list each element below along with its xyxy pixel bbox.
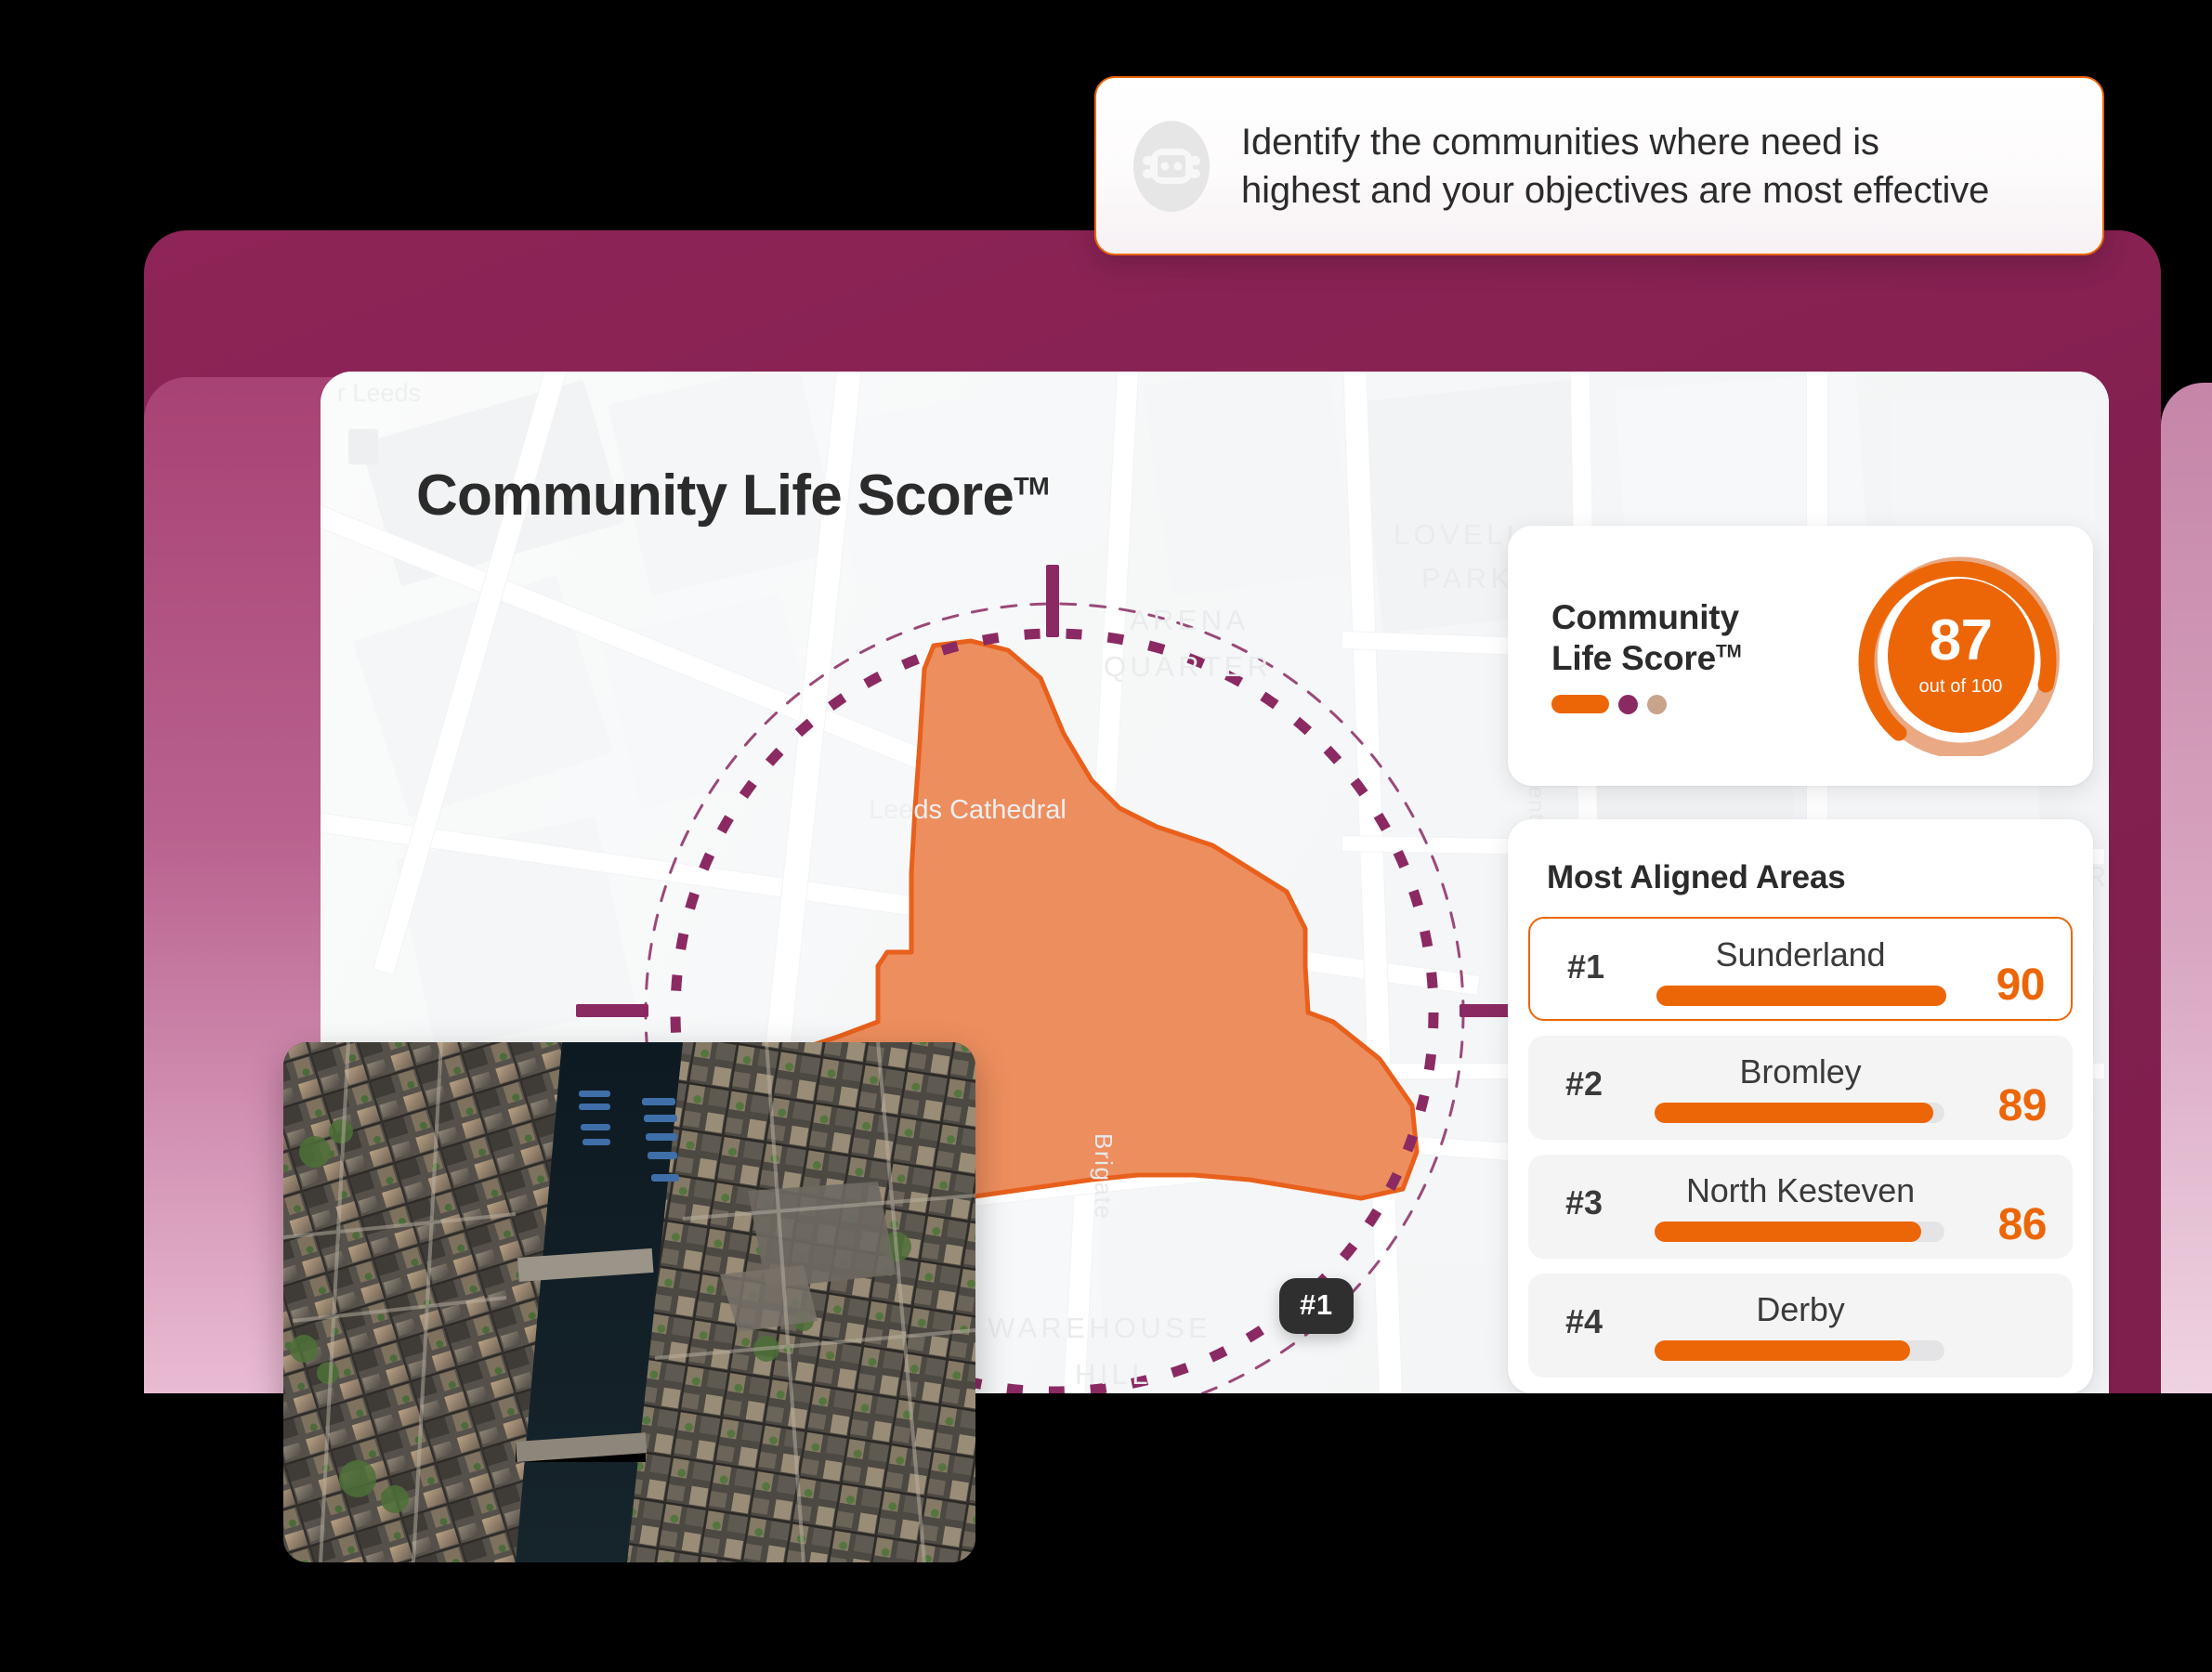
score-title-trademark: TM <box>1716 642 1741 661</box>
score-card-left: Community Life ScoreTM <box>1508 597 1741 714</box>
tooltip-line-1: Identify the communities where need is <box>1241 122 1879 163</box>
area-score-bar-fill <box>1655 1340 1910 1361</box>
aerial-photo-image <box>283 1042 975 1562</box>
map-label: Leeds Cathedral <box>869 795 1067 826</box>
robot-icon <box>1133 121 1210 212</box>
legend-pill-primary <box>1551 695 1609 713</box>
area-score-value: 86 <box>1998 1199 2047 1250</box>
area-row[interactable]: #1Sunderland90 <box>1528 917 2073 1021</box>
page-title: Community Life ScoreTM <box>416 463 1049 529</box>
callout-tooltip: Identify the communities where need is h… <box>1094 76 2104 255</box>
area-score-value: 89 <box>1998 1080 2047 1131</box>
screenshot-root: r LeedsLOVELLPARKARENAQUARTERLEYLANDSLee… <box>0 0 2212 1672</box>
page-title-text: Community Life Score <box>416 464 1014 528</box>
area-score-bar <box>1655 1103 1944 1123</box>
map-label: r Leeds <box>337 379 421 408</box>
gauge-subtitle: out of 100 <box>1919 676 2003 698</box>
area-row[interactable]: #3North Kesteven86 <box>1528 1155 2073 1259</box>
ring-tick-north <box>1046 565 1059 637</box>
score-title-line2: Life Score <box>1551 639 1716 677</box>
gauge-value: 87 <box>1930 614 1993 668</box>
map-label: QUARTER <box>1104 650 1272 684</box>
area-score-bar <box>1655 1221 1944 1242</box>
score-card-title: Community Life ScoreTM <box>1551 597 1741 678</box>
areas-card-heading: Most Aligned Areas <box>1547 859 2093 896</box>
tooltip-line-2: highest and your objectives are most eff… <box>1241 170 1989 211</box>
area-row[interactable]: #2Bromley89 <box>1528 1036 2073 1140</box>
map-street-label: Brigate <box>1089 1133 1118 1220</box>
tooltip-text: Identify the communities where need is h… <box>1241 118 1989 215</box>
area-score-bar-fill <box>1655 1221 1921 1242</box>
map-pin-badge[interactable]: #1 <box>1279 1278 1354 1334</box>
area-name: Bromley <box>1528 1052 2073 1091</box>
legend-dot-tertiary <box>1647 695 1667 714</box>
area-row[interactable]: #4Derby <box>1528 1274 2073 1378</box>
area-score-bar-fill <box>1655 1103 1933 1123</box>
areas-list: #1Sunderland90#2Bromley89#3North Kesteve… <box>1508 917 2093 1378</box>
gauge-center: 87 out of 100 <box>1888 579 2035 733</box>
map-label: WAREHOUSE <box>988 1312 1211 1345</box>
area-name: Sunderland <box>1530 935 2071 974</box>
background-panel-right <box>2161 383 2212 1393</box>
aerial-photo-inset[interactable] <box>283 1042 975 1562</box>
map-label: PARK <box>1421 562 1513 595</box>
area-score-bar-fill <box>1656 986 1946 1006</box>
map-block <box>1143 372 1356 597</box>
map-marker-square <box>348 429 378 464</box>
area-score-bar <box>1655 1340 1944 1361</box>
score-gauge: 87 out of 100 <box>1856 555 2065 756</box>
legend-dot-secondary <box>1618 695 1638 714</box>
area-name: Derby <box>1528 1290 2073 1329</box>
area-score-bar <box>1656 986 1946 1006</box>
map-label: HILL <box>1075 1358 1152 1391</box>
page-title-trademark: TM <box>1014 471 1049 500</box>
map-label: LOVELL <box>1394 518 1526 552</box>
score-legend <box>1551 695 1741 714</box>
most-aligned-areas-card[interactable]: Most Aligned Areas #1Sunderland90#2Broml… <box>1508 819 2093 1393</box>
score-title-line1: Community <box>1551 598 1739 636</box>
area-name: North Kesteven <box>1528 1171 2073 1210</box>
map-label: ARENA <box>1130 604 1250 637</box>
area-score-value: 90 <box>1996 960 2045 1011</box>
community-life-score-card[interactable]: Community Life ScoreTM 87 out of 100 <box>1508 526 2093 786</box>
